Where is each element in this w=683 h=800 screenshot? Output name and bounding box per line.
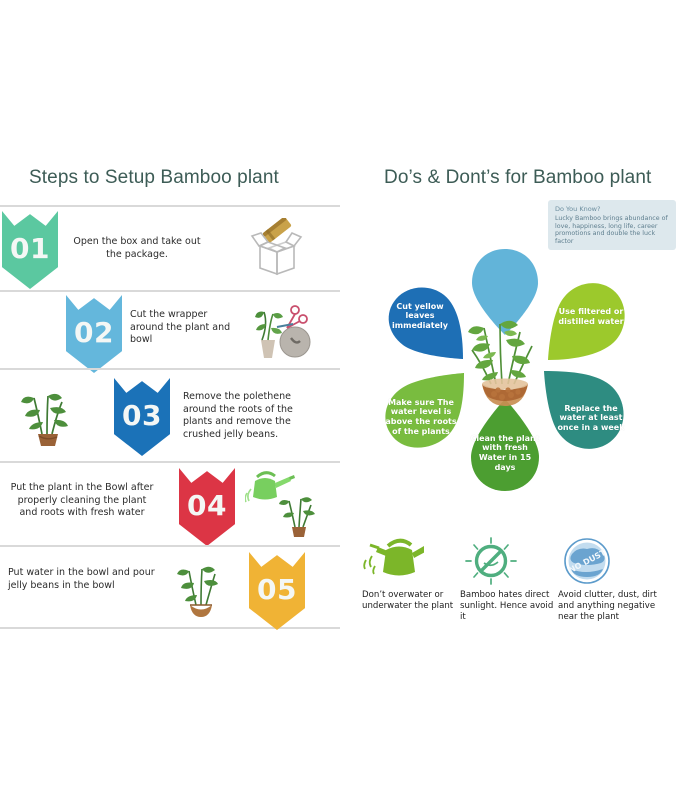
steps-list: 01 Open the box and take out the package…	[0, 205, 340, 629]
step-text-02: Cut the wrapper around the plant and bow…	[130, 309, 234, 347]
step-text-03: Remove the polethene around the roots of…	[183, 391, 307, 441]
watering-can-icon	[362, 536, 458, 586]
petal-text-bottom: Clean the plant with fresh Water in 15 d…	[465, 434, 545, 472]
bamboo-plant-roots-icon	[14, 384, 80, 450]
step-row-03: 03 Remove the polethene around the roots…	[0, 368, 340, 461]
step-number-01: 01	[10, 232, 50, 265]
step-number-03: 03	[122, 399, 162, 432]
petal-text-bottom-left: Make sure The water level is above the r…	[376, 398, 466, 436]
watering-can-and-plant-icon	[245, 467, 317, 541]
step-text-05: Put water in the bowl and pour jelly bea…	[8, 567, 158, 592]
did-you-know-heading: Do You Know?	[555, 205, 670, 214]
step-number-04: 04	[187, 489, 227, 522]
left-panel-title: Steps to Setup Bamboo plant	[29, 167, 279, 189]
step-number-badge-04: 04	[179, 468, 235, 546]
step-number-badge-01: 01	[2, 211, 58, 289]
no-dust-stamp-icon: NO DUST	[558, 536, 662, 586]
step-row-01: 01 Open the box and take out the package…	[0, 205, 340, 290]
step-number-05: 05	[257, 573, 297, 606]
scissors-cutting-wrapper-icon	[243, 300, 313, 362]
step-number-badge-02: 02	[66, 295, 122, 373]
step-text-01: Open the box and take out the package.	[72, 236, 202, 261]
step-number-02: 02	[74, 316, 114, 349]
petal-text-top-left: Cut yellow leaves immediately	[377, 302, 463, 331]
open-box-with-package-icon	[246, 218, 308, 280]
petal-replace-water-weekly: Replace the water at least once in a wee…	[540, 368, 630, 456]
step-number-badge-05: 05	[249, 552, 305, 630]
step-number-badge-03: 03	[114, 378, 170, 456]
petal-cut-yellow-leaves: Cut yellow leaves immediately	[383, 281, 469, 363]
step-row-02: 02 Cut the wrapper around the plant and …	[0, 290, 340, 368]
infographic-canvas: Steps to Setup Bamboo plant 01 Open the …	[0, 0, 683, 800]
dont-text-overwater: Don’t overwater or underwater the plant	[362, 590, 458, 612]
no-sunlight-icon	[460, 536, 556, 586]
petal-text-bottom-right: Replace the water at least once in a wee…	[546, 404, 636, 433]
did-you-know-box: Do You Know? Lucky Bamboo brings abundan…	[548, 200, 676, 250]
step-text-04: Put the plant in the Bowl after properly…	[8, 482, 156, 520]
petal-use-filtered-water: Use filtered or distilled water	[542, 278, 630, 364]
did-you-know-body: Lucky Bamboo brings abundance of love, h…	[555, 215, 670, 245]
dont-text-clutter: Avoid clutter, dust, dirt and anything n…	[558, 590, 662, 623]
dont-item-sunlight: Bamboo hates direct sunlight. Hence avoi…	[460, 536, 556, 623]
dont-text-sunlight: Bamboo hates direct sunlight. Hence avoi…	[460, 590, 556, 623]
petal-text-top-right: Use filtered or distilled water	[547, 307, 635, 326]
bamboo-in-bowl-icon	[170, 557, 232, 623]
dont-item-overwater: Don’t overwater or underwater the plant	[362, 536, 458, 612]
step-row-05: Put water in the bowl and pour jelly bea…	[0, 545, 340, 629]
dos-petal-diagram: Keep the plant inside your home Cut yell…	[378, 245, 678, 510]
lucky-bamboo-in-glass-bowl-image	[462, 312, 548, 412]
petal-water-level: Make sure The water level is above the r…	[380, 370, 470, 454]
dont-item-clutter: NO DUST Avoid clutter, dust, dirt and an…	[558, 536, 662, 623]
right-panel-title: Do’s & Dont’s for Bamboo plant	[384, 167, 651, 189]
step-row-04: Put the plant in the Bowl after properly…	[0, 461, 340, 545]
